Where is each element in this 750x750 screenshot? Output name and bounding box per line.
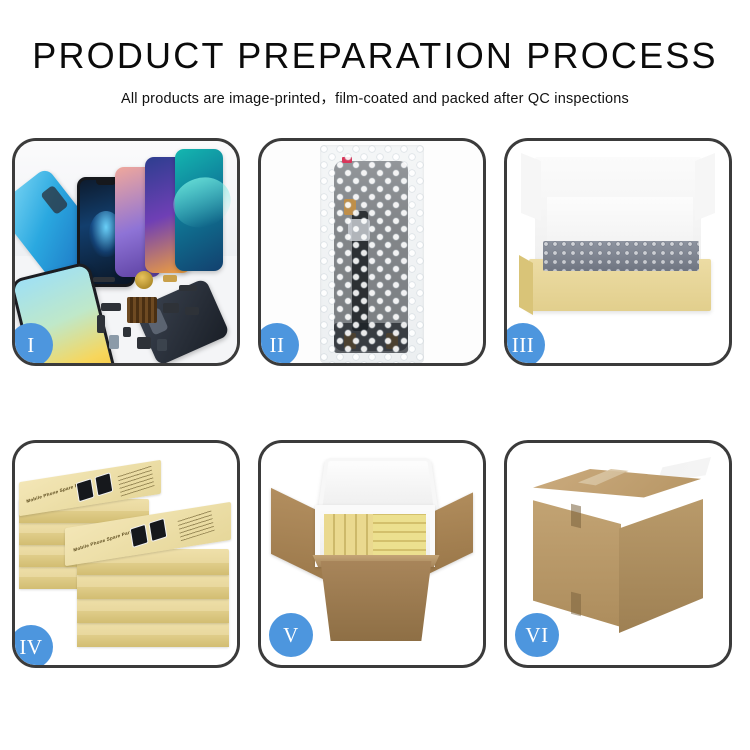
step-badge-4: IV [12, 625, 53, 668]
step-frame: I [12, 138, 240, 366]
bubble-texture [320, 145, 424, 363]
process-step-1: I [12, 138, 240, 366]
step-frame: VI [504, 440, 732, 668]
step-badge-3: III [504, 323, 545, 366]
carton-body [313, 561, 439, 641]
carton-seam-bottom [571, 592, 581, 616]
step-photo-phone-screens-and-parts [15, 141, 237, 363]
step-frame: Mobile Phone Spare Parts Mobile Phone Sp… [12, 440, 240, 668]
step-badge-6: VI [515, 613, 559, 657]
step-frame: II [258, 138, 486, 366]
step-photo-open-kraft-box-with-foam [507, 141, 729, 363]
page-title: PRODUCT PREPARATION PROCESS [0, 38, 750, 74]
step-frame: III [504, 138, 732, 366]
teal-phone [175, 149, 223, 271]
process-step-4: Mobile Phone Spare Parts Mobile Phone Sp… [12, 440, 240, 668]
process-step-5: V [258, 440, 486, 668]
process-step-grid: I II [0, 120, 750, 720]
step-badge-5: V [269, 613, 313, 657]
bubble-wrap-bag [320, 145, 424, 363]
header: PRODUCT PREPARATION PROCESS All products… [0, 0, 750, 108]
bubble-foam-filling [543, 241, 699, 271]
box-label: Mobile Phone Spare Parts [73, 528, 135, 552]
step-badge-1: I [12, 323, 53, 366]
spare-parts-cluster [93, 269, 209, 363]
process-step-3: III [504, 138, 732, 366]
product-preparation-infographic: PRODUCT PREPARATION PROCESS All products… [0, 0, 750, 750]
step-frame: V [258, 440, 486, 668]
box-stack: Mobile Phone Spare Parts Mobile Phone Sp… [19, 469, 237, 659]
step-photo-stacked-retail-boxes: Mobile Phone Spare Parts Mobile Phone Sp… [15, 443, 237, 665]
carton-right-face [619, 499, 703, 633]
process-step-2: II [258, 138, 486, 366]
page-subtitle: All products are image-printed，film-coat… [0, 87, 750, 108]
packed-retail-boxes [324, 514, 426, 558]
step-photo-bubble-wrapped-screen [261, 141, 483, 363]
process-step-6: VI [504, 440, 732, 668]
kraft-box-tray [529, 259, 711, 311]
carton-seam-top [571, 504, 581, 528]
step-badge-2: II [258, 323, 299, 366]
